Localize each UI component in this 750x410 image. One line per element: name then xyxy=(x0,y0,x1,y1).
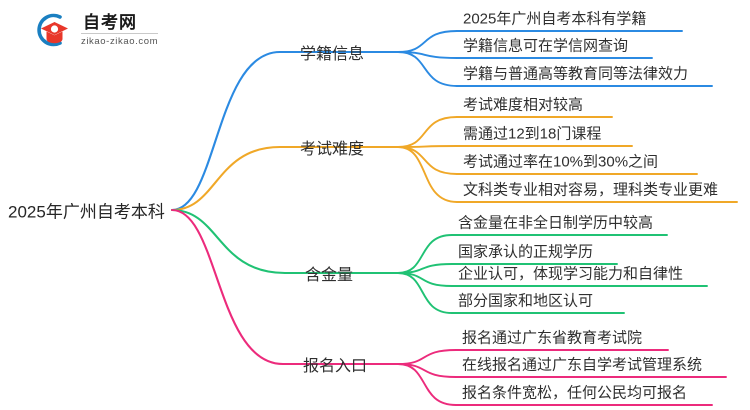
leaf-label-han-jin-liang-1[interactable]: 国家承认的正规学历 xyxy=(458,241,593,262)
leaf-connector-kaoshi-nandu-3 xyxy=(398,147,457,202)
branch-trunk-han-jin-liang xyxy=(172,210,285,273)
leaf-label-kaoshi-nandu-2[interactable]: 考试通过率在10%到30%之间 xyxy=(463,151,658,172)
leaf-connector-kaoshi-nandu-2 xyxy=(398,147,457,174)
zikao-logo-icon xyxy=(30,10,74,50)
leaf-label-han-jin-liang-3[interactable]: 部分国家和地区认可 xyxy=(458,290,593,311)
branch-trunk-xueji-xinxi xyxy=(172,52,280,210)
branch-label-han-jin-liang[interactable]: 含金量 xyxy=(305,261,353,285)
mindmap-canvas: 自考网 zikao-zikao.com 2025年广州自考本科学籍信息2025年… xyxy=(0,0,750,410)
leaf-label-han-jin-liang-2[interactable]: 企业认可，体现学习能力和自律性 xyxy=(458,263,683,284)
leaf-connector-han-jin-liang-1 xyxy=(398,264,452,273)
leaf-label-xueji-xinxi-0[interactable]: 2025年广州自考本科有学籍 xyxy=(463,8,646,29)
leaf-label-kaoshi-nandu-1[interactable]: 需通过12到18门课程 xyxy=(463,123,601,144)
branch-label-kaoshi-nandu[interactable]: 考试难度 xyxy=(300,135,364,159)
mindmap-root-label[interactable]: 2025年广州自考本科 xyxy=(8,198,165,223)
branch-label-xueji-xinxi[interactable]: 学籍信息 xyxy=(300,40,364,64)
leaf-connector-xueji-xinxi-2 xyxy=(398,52,457,86)
leaf-connector-han-jin-liang-2 xyxy=(398,273,452,286)
leaf-connector-han-jin-liang-3 xyxy=(398,273,452,313)
site-logo: 自考网 zikao-zikao.com xyxy=(30,10,158,50)
leaf-connector-baoming-rukou-1 xyxy=(398,364,456,377)
leaf-label-baoming-rukou-0[interactable]: 报名通过广东省教育考试院 xyxy=(462,327,642,348)
logo-title: 自考网 xyxy=(81,14,158,34)
leaf-label-baoming-rukou-1[interactable]: 在线报名通过广东自学考试管理系统 xyxy=(462,354,702,375)
leaf-connector-xueji-xinxi-0 xyxy=(398,31,457,52)
leaf-connector-kaoshi-nandu-1 xyxy=(398,146,457,147)
leaf-connector-kaoshi-nandu-0 xyxy=(398,117,457,147)
leaf-label-kaoshi-nandu-0[interactable]: 考试难度相对较高 xyxy=(463,94,583,115)
branch-trunk-baoming-rukou xyxy=(172,210,283,364)
leaf-label-han-jin-liang-0[interactable]: 含金量在非全日制学历中较高 xyxy=(458,212,653,233)
leaf-connector-xueji-xinxi-1 xyxy=(398,52,457,58)
branch-trunk-kaoshi-nandu xyxy=(172,147,280,210)
branch-label-baoming-rukou[interactable]: 报名入口 xyxy=(303,352,367,376)
leaf-label-xueji-xinxi-2[interactable]: 学籍与普通高等教育同等法律效力 xyxy=(463,63,688,84)
logo-subtitle: zikao-zikao.com xyxy=(81,37,158,47)
leaf-connector-han-jin-liang-0 xyxy=(398,235,452,273)
leaf-connector-baoming-rukou-0 xyxy=(398,350,456,364)
leaf-label-baoming-rukou-2[interactable]: 报名条件宽松，任何公民均可报名 xyxy=(462,382,687,403)
leaf-label-kaoshi-nandu-3[interactable]: 文科类专业相对容易，理科类专业更难 xyxy=(463,179,718,200)
leaf-connector-baoming-rukou-2 xyxy=(398,364,456,405)
leaf-label-xueji-xinxi-1[interactable]: 学籍信息可在学信网查询 xyxy=(463,35,628,56)
